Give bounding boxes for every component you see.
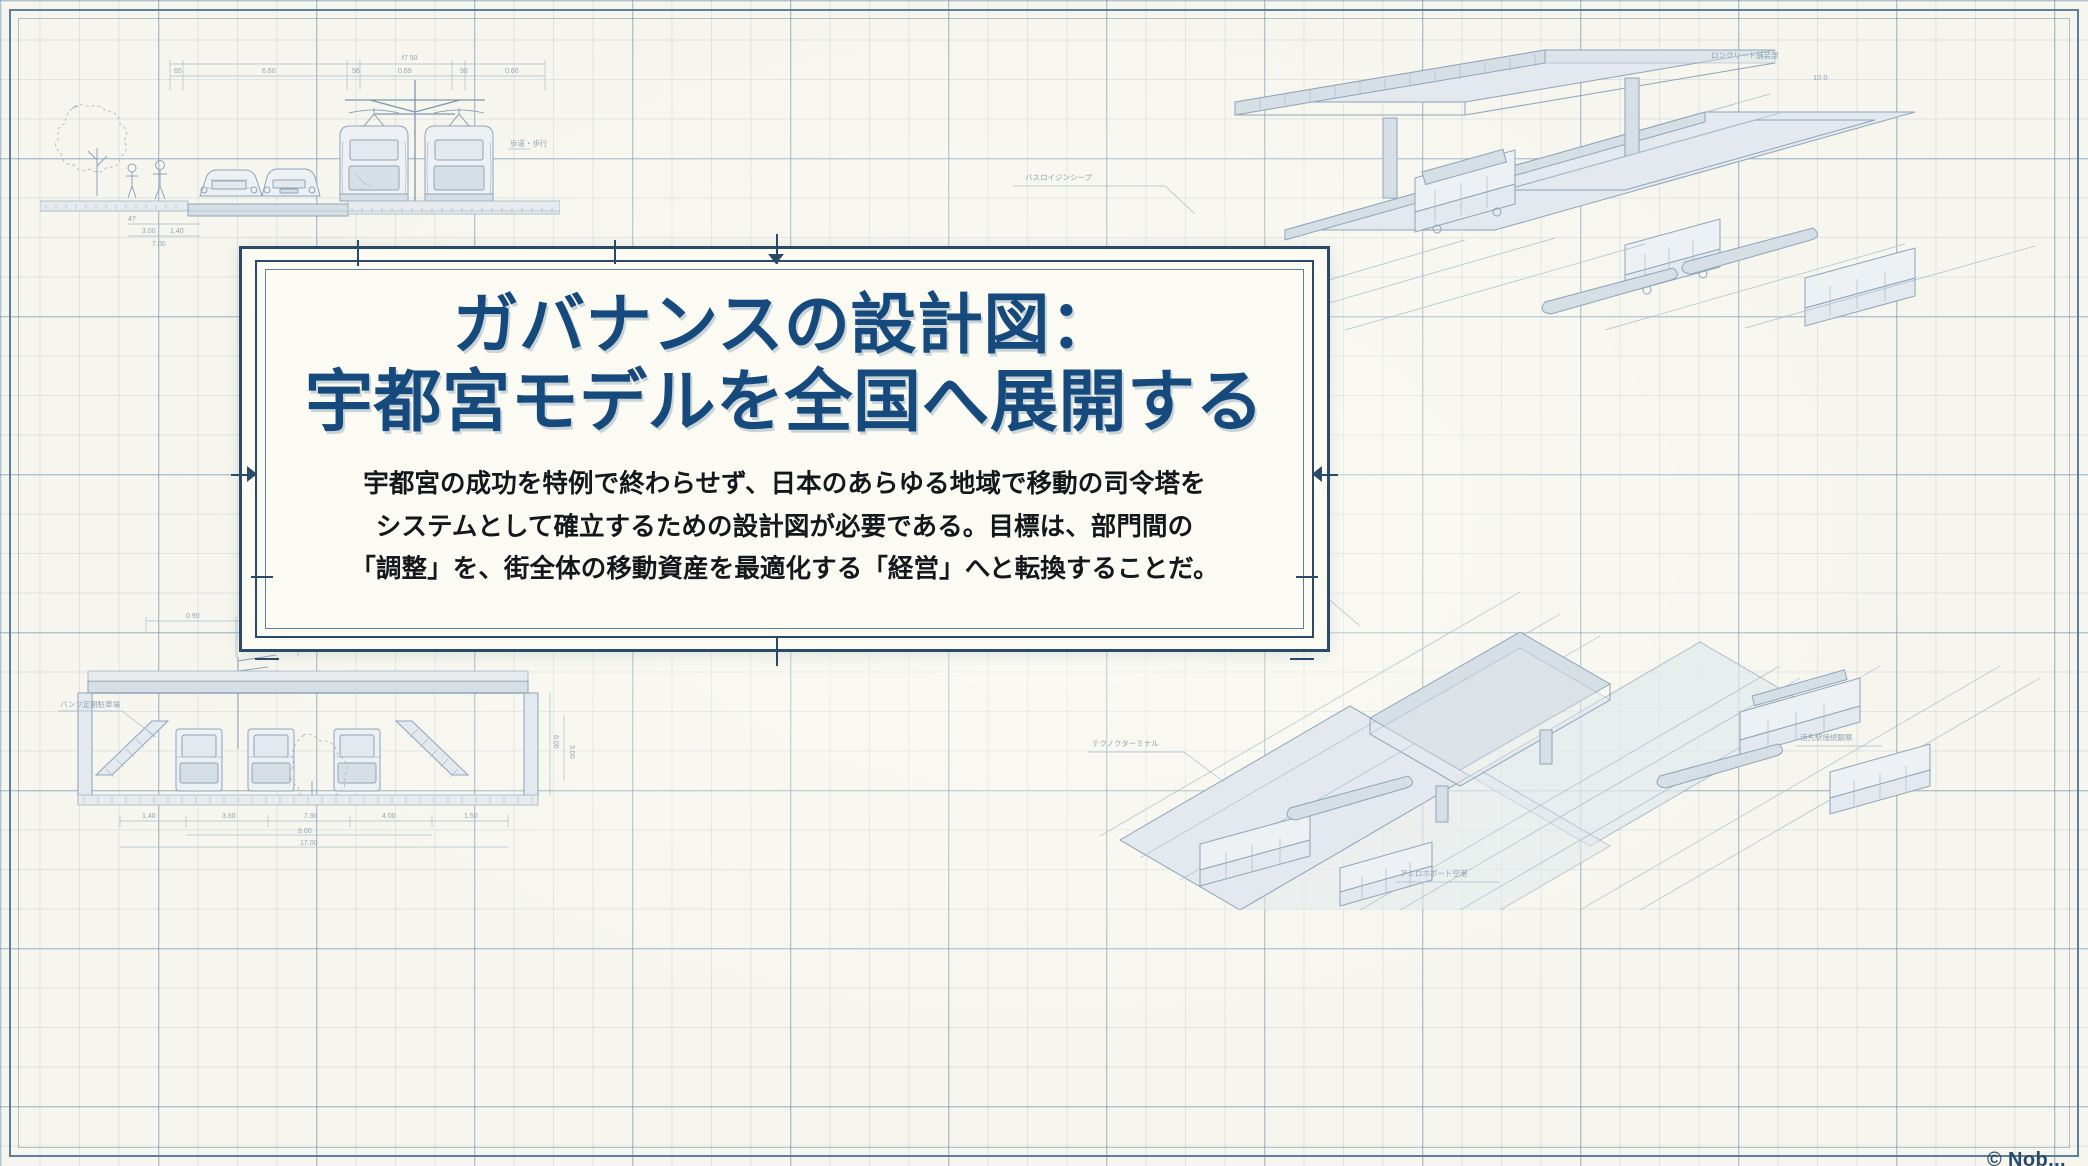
card-content: ガバナンスの設計図： 宇都宮モデルを全国へ展開する 宇都宮の成功を特例で終わらせ…: [239, 286, 1330, 590]
tick-bottom-right: [1290, 658, 1314, 660]
svg-text:f7 50: f7 50: [402, 55, 418, 62]
title-line-2: 宇都宮モデルを全国へ展開する: [239, 363, 1330, 442]
svg-text:7.90: 7.90: [304, 813, 318, 820]
svg-text:アミロホポート空港: アミロホポート空港: [1400, 868, 1468, 878]
title-line-1: ガバナンスの設計図：: [239, 286, 1330, 363]
svg-text:96: 96: [460, 68, 468, 75]
svg-text:56: 56: [352, 68, 360, 75]
credit-text: © Nob...: [1987, 1149, 2066, 1166]
svg-text:1.50: 1.50: [464, 813, 478, 820]
body-line-1: 宇都宮の成功を特例で終わらせず、日本のあらゆる地域で移動の司令塔を: [239, 463, 1330, 505]
svg-text:9.00: 9.00: [298, 828, 312, 835]
svg-text:3.00: 3.00: [568, 745, 575, 759]
slide-root: f7 50 65 6.60 56 0.69 96 0.60 4?: [0, 0, 2088, 1166]
svg-text:3.60: 3.60: [222, 813, 236, 820]
svg-text:0.69: 0.69: [398, 68, 412, 75]
tick-bottom-center: [776, 636, 778, 666]
svg-text:0.60: 0.60: [505, 68, 519, 75]
svg-text:4?: 4?: [128, 216, 136, 223]
svg-text:3.00: 3.00: [142, 228, 156, 235]
svg-text:65: 65: [174, 68, 182, 75]
page-subtitle: 宇都宮の成功を特例で終わらせず、日本のあらゆる地域で移動の司令塔を システムとし…: [239, 463, 1330, 590]
title-card: ガバナンスの設計図： 宇都宮モデルを全国へ展開する 宇都宮の成功を特例で終わらせ…: [239, 246, 1330, 652]
svg-text:6.00: 6.00: [552, 735, 559, 749]
svg-text:テクノクターミナル: テクノクターミナル: [1092, 739, 1159, 748]
tick-bottom-left: [255, 658, 279, 660]
svg-text:ロンクリート舗装部: ロンクリート舗装部: [1711, 50, 1779, 60]
body-line-2: システムとして確立するための設計図が必要である。目標は、部門間の: [239, 506, 1330, 548]
svg-text:6.60: 6.60: [262, 68, 276, 75]
svg-text:歩道・歩行: 歩道・歩行: [510, 138, 548, 148]
svg-text:1.40: 1.40: [170, 228, 184, 235]
svg-text:活先駅接続観察: 活先駅接続観察: [1800, 732, 1853, 742]
svg-text:17.00: 17.00: [300, 840, 318, 847]
body-line-3: 「調整」を、街全体の移動資産を最適化する「経営」へと転換することだ。: [239, 548, 1330, 590]
svg-text:10 0: 10 0: [1813, 73, 1828, 82]
svg-text:1.40: 1.40: [142, 813, 156, 820]
page-title: ガバナンスの設計図： 宇都宮モデルを全国へ展開する: [239, 286, 1330, 441]
drawing-tram-street-cross-section: f7 50 65 6.60 56 0.69 96 0.60 4?: [40, 18, 560, 248]
svg-text:バスロイジンシープ: バスロイジンシープ: [1025, 173, 1093, 182]
svg-text:4.00: 4.00: [382, 813, 396, 820]
arrow-top-center-icon: [768, 254, 784, 264]
svg-text:0.90: 0.90: [186, 613, 200, 620]
tick-top-mid: [614, 240, 616, 264]
svg-text:7.00: 7.00: [152, 241, 166, 248]
svg-text:バンフ定期駐車場: バンフ定期駐車場: [60, 699, 121, 709]
tick-top-left: [357, 240, 359, 266]
